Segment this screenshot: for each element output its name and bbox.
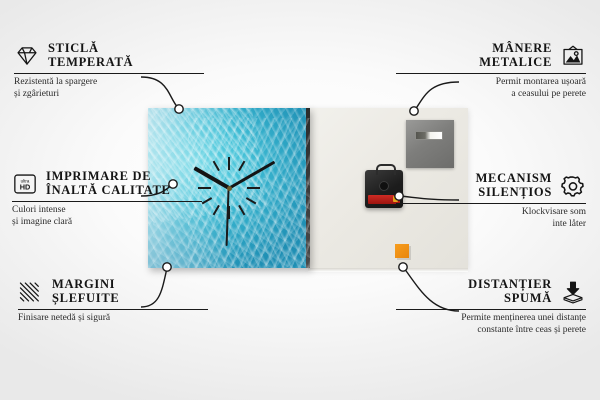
feature-title-line1: IMPRIMARE DE bbox=[46, 170, 171, 184]
gear-icon bbox=[560, 174, 586, 198]
feature-title-line2: ÎNALTĂ CALITATE bbox=[46, 184, 171, 198]
feature-desc-line1: Klockvisare som bbox=[396, 207, 586, 219]
feature-divider bbox=[396, 309, 586, 310]
feature-divider bbox=[396, 73, 586, 74]
feature-desc-line2: constante între ceas și perete bbox=[396, 325, 586, 337]
feature-header: STICLĂ TEMPERATĂ bbox=[14, 42, 204, 69]
feature-header: MECANISM SILENȚIOS bbox=[396, 172, 586, 199]
feature-desc-line2: a ceasului pe perete bbox=[396, 89, 586, 101]
feature-desc-line2: și imagine clară bbox=[12, 217, 202, 229]
feature-desc-line1: Permit montarea ușoară bbox=[396, 77, 586, 89]
feature-desc-line1: Culori intense bbox=[12, 205, 202, 217]
feature-title-line1: MECANISM bbox=[476, 172, 552, 186]
feature-title-line1: MARGINI bbox=[52, 278, 119, 292]
feature-title-line2: TEMPERATĂ bbox=[48, 56, 133, 70]
feature-divider bbox=[12, 201, 202, 202]
metal-hanger-plate bbox=[406, 120, 454, 168]
feature-desc-line2: inte låter bbox=[396, 219, 586, 231]
feature-foam-spacer: DISTANȚIER SPUMĂ Permite menținerea unei… bbox=[396, 278, 586, 336]
beveled-edge-icon bbox=[18, 280, 44, 304]
feature-high-quality-print: ultra HD IMPRIMARE DE ÎNALTĂ CALITATE Cu… bbox=[12, 170, 202, 228]
feature-desc-line1: Permite menținerea unei distanțe bbox=[396, 313, 586, 325]
feature-title-line2: METALICE bbox=[479, 56, 552, 70]
feature-desc-line2: și zgârieturi bbox=[14, 89, 204, 101]
feature-title-line1: DISTANȚIER bbox=[468, 278, 552, 292]
feature-divider bbox=[18, 309, 208, 310]
diamond-icon bbox=[14, 44, 40, 68]
feature-tempered-glass: STICLĂ TEMPERATĂ Rezistentă la spargere … bbox=[14, 42, 204, 100]
picture-hanger-icon bbox=[560, 44, 586, 68]
feature-header: MÂNERE METALICE bbox=[396, 42, 586, 69]
feature-header: DISTANȚIER SPUMĂ bbox=[396, 278, 586, 305]
mechanism-hook bbox=[376, 164, 396, 175]
feature-metal-handles: MÂNERE METALICE Permit montarea ușoară a… bbox=[396, 42, 586, 100]
feature-title-line2: SPUMĂ bbox=[468, 292, 552, 306]
feature-title-line1: MÂNERE bbox=[479, 42, 552, 56]
feature-header: ultra HD IMPRIMARE DE ÎNALTĂ CALITATE bbox=[12, 170, 202, 197]
feature-silent-mechanism: MECANISM SILENȚIOS Klockvisare som inte … bbox=[396, 172, 586, 230]
clock-center-pin bbox=[227, 186, 232, 191]
feature-divider bbox=[396, 203, 586, 204]
feature-desc-line1: Finisare netedă și sigură bbox=[18, 313, 208, 325]
feature-header: MARGINI ȘLEFUITE bbox=[18, 278, 208, 305]
feature-title-line2: SILENȚIOS bbox=[476, 186, 552, 200]
feature-polished-edges: MARGINI ȘLEFUITE Finisare netedă și sigu… bbox=[18, 278, 208, 325]
badge-main-text: HD bbox=[20, 182, 31, 191]
foam-spacer-piece bbox=[395, 244, 409, 258]
hanger-keyhole-slot bbox=[415, 131, 443, 140]
feature-title-line1: STICLĂ bbox=[48, 42, 133, 56]
infographic-canvas: STICLĂ TEMPERATĂ Rezistentă la spargere … bbox=[0, 0, 600, 400]
press-pad-icon bbox=[560, 280, 586, 304]
feature-divider bbox=[14, 73, 204, 74]
feature-desc-line1: Rezistentă la spargere bbox=[14, 77, 204, 89]
ultra-hd-badge-icon: ultra HD bbox=[12, 172, 38, 196]
feature-title-line2: ȘLEFUITE bbox=[52, 292, 119, 306]
mechanism-shaft bbox=[379, 181, 389, 191]
